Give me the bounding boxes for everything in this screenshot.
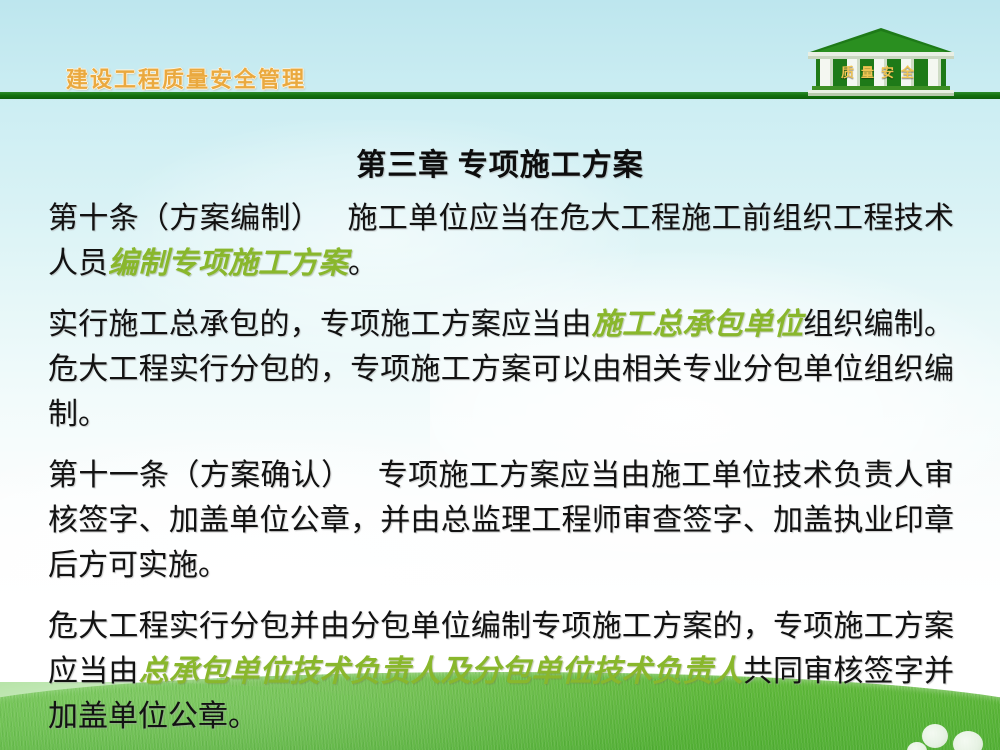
text-run: 。 xyxy=(348,247,378,280)
highlighted-text: 施工总承包单位 xyxy=(592,308,803,341)
slide-body: 第十条（方案编制） 施工单位应当在危大工程施工前组织工程技术人员编制专项施工方案… xyxy=(48,196,954,739)
building-icon xyxy=(806,26,956,96)
flower-decoration xyxy=(953,731,983,750)
paragraph-article-11-cont: 危大工程实行分包并由分包单位编制专项施工方案的，专项施工方案应当由总承包单位技术… xyxy=(48,604,954,739)
slide-title: 第三章 专项施工方案 xyxy=(0,140,1000,184)
paragraph-article-11: 第十一条（方案确认） 专项施工方案应当由施工单位技术负责人审核签字、加盖单位公章… xyxy=(48,453,954,588)
paragraph-article-10: 第十条（方案编制） 施工单位应当在危大工程施工前组织工程技术人员编制专项施工方案… xyxy=(48,196,954,286)
presentation-slide: 建设工程质量安全管理 xyxy=(0,0,1000,750)
header-title: 建设工程质量安全管理 xyxy=(66,62,306,94)
highlighted-text: 编制专项施工方案 xyxy=(108,247,348,280)
quality-safety-building-logo: 质量安全 xyxy=(806,26,956,96)
text-run: 实行施工总承包的，专项施工方案应当由 xyxy=(48,308,592,341)
text-run: 第十一条（方案确认） xyxy=(48,459,351,492)
text-run: 第十条（方案编制） xyxy=(48,202,321,235)
highlighted-text: 总承包单位技术负责人及分包单位技术负责人 xyxy=(139,655,743,688)
paragraph-article-10-cont: 实行施工总承包的，专项施工方案应当由施工总承包单位组织编制。危大工程实行分包的，… xyxy=(48,302,954,437)
